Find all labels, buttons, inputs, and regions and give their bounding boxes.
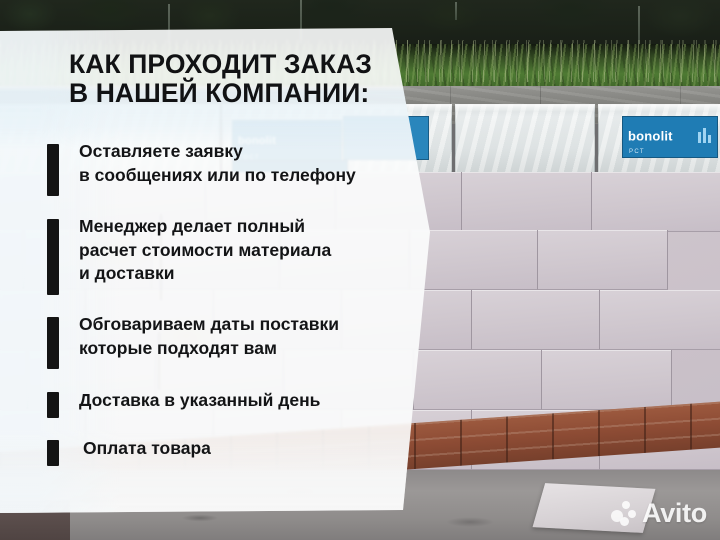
pallet-label: bonolit РСТ (622, 116, 718, 158)
panel-content: КАК ПРОХОДИТ ЗАКАЗ В НАШЕЙ КОМПАНИИ: Ост… (0, 0, 470, 540)
bullet-bar-icon (47, 144, 59, 196)
list-item: Оплата товара (47, 439, 447, 466)
avito-watermark: Avito (611, 500, 707, 527)
list-item: Оставляете заявку в сообщениях или по те… (47, 142, 447, 196)
avito-logo-icon (611, 501, 636, 526)
list-item: Доставка в указанный день (47, 391, 447, 418)
list-item-label: Обговариваем даты поставки которые подхо… (79, 313, 339, 360)
bullet-bar-icon (47, 219, 59, 295)
pallet-label-bars-icon (698, 128, 711, 143)
pallet-label-brand: bonolit (628, 128, 673, 143)
pallet (455, 104, 595, 176)
steps-list: Оставляете заявку в сообщениях или по те… (47, 142, 447, 466)
pallet-label-sub: РСТ (629, 149, 645, 155)
bullet-bar-icon (47, 392, 59, 418)
list-item-label: Менеджер делает полный расчет стоимости … (79, 215, 331, 286)
list-item-label: Оплата товара (83, 437, 211, 461)
list-item: Менеджер делает полный расчет стоимости … (47, 217, 447, 295)
list-item-label: Оставляете заявку в сообщениях или по те… (79, 140, 356, 187)
bullet-bar-icon (47, 440, 59, 466)
promo-image: bonolit ГОСТ bonolit РСТ (0, 0, 720, 540)
avito-wordmark: Avito (642, 500, 707, 527)
page-title: КАК ПРОХОДИТ ЗАКАЗ В НАШЕЙ КОМПАНИИ: (69, 50, 409, 108)
list-item: Обговариваем даты поставки которые подхо… (47, 315, 447, 369)
bullet-bar-icon (47, 317, 59, 369)
list-item-label: Доставка в указанный день (79, 389, 320, 413)
